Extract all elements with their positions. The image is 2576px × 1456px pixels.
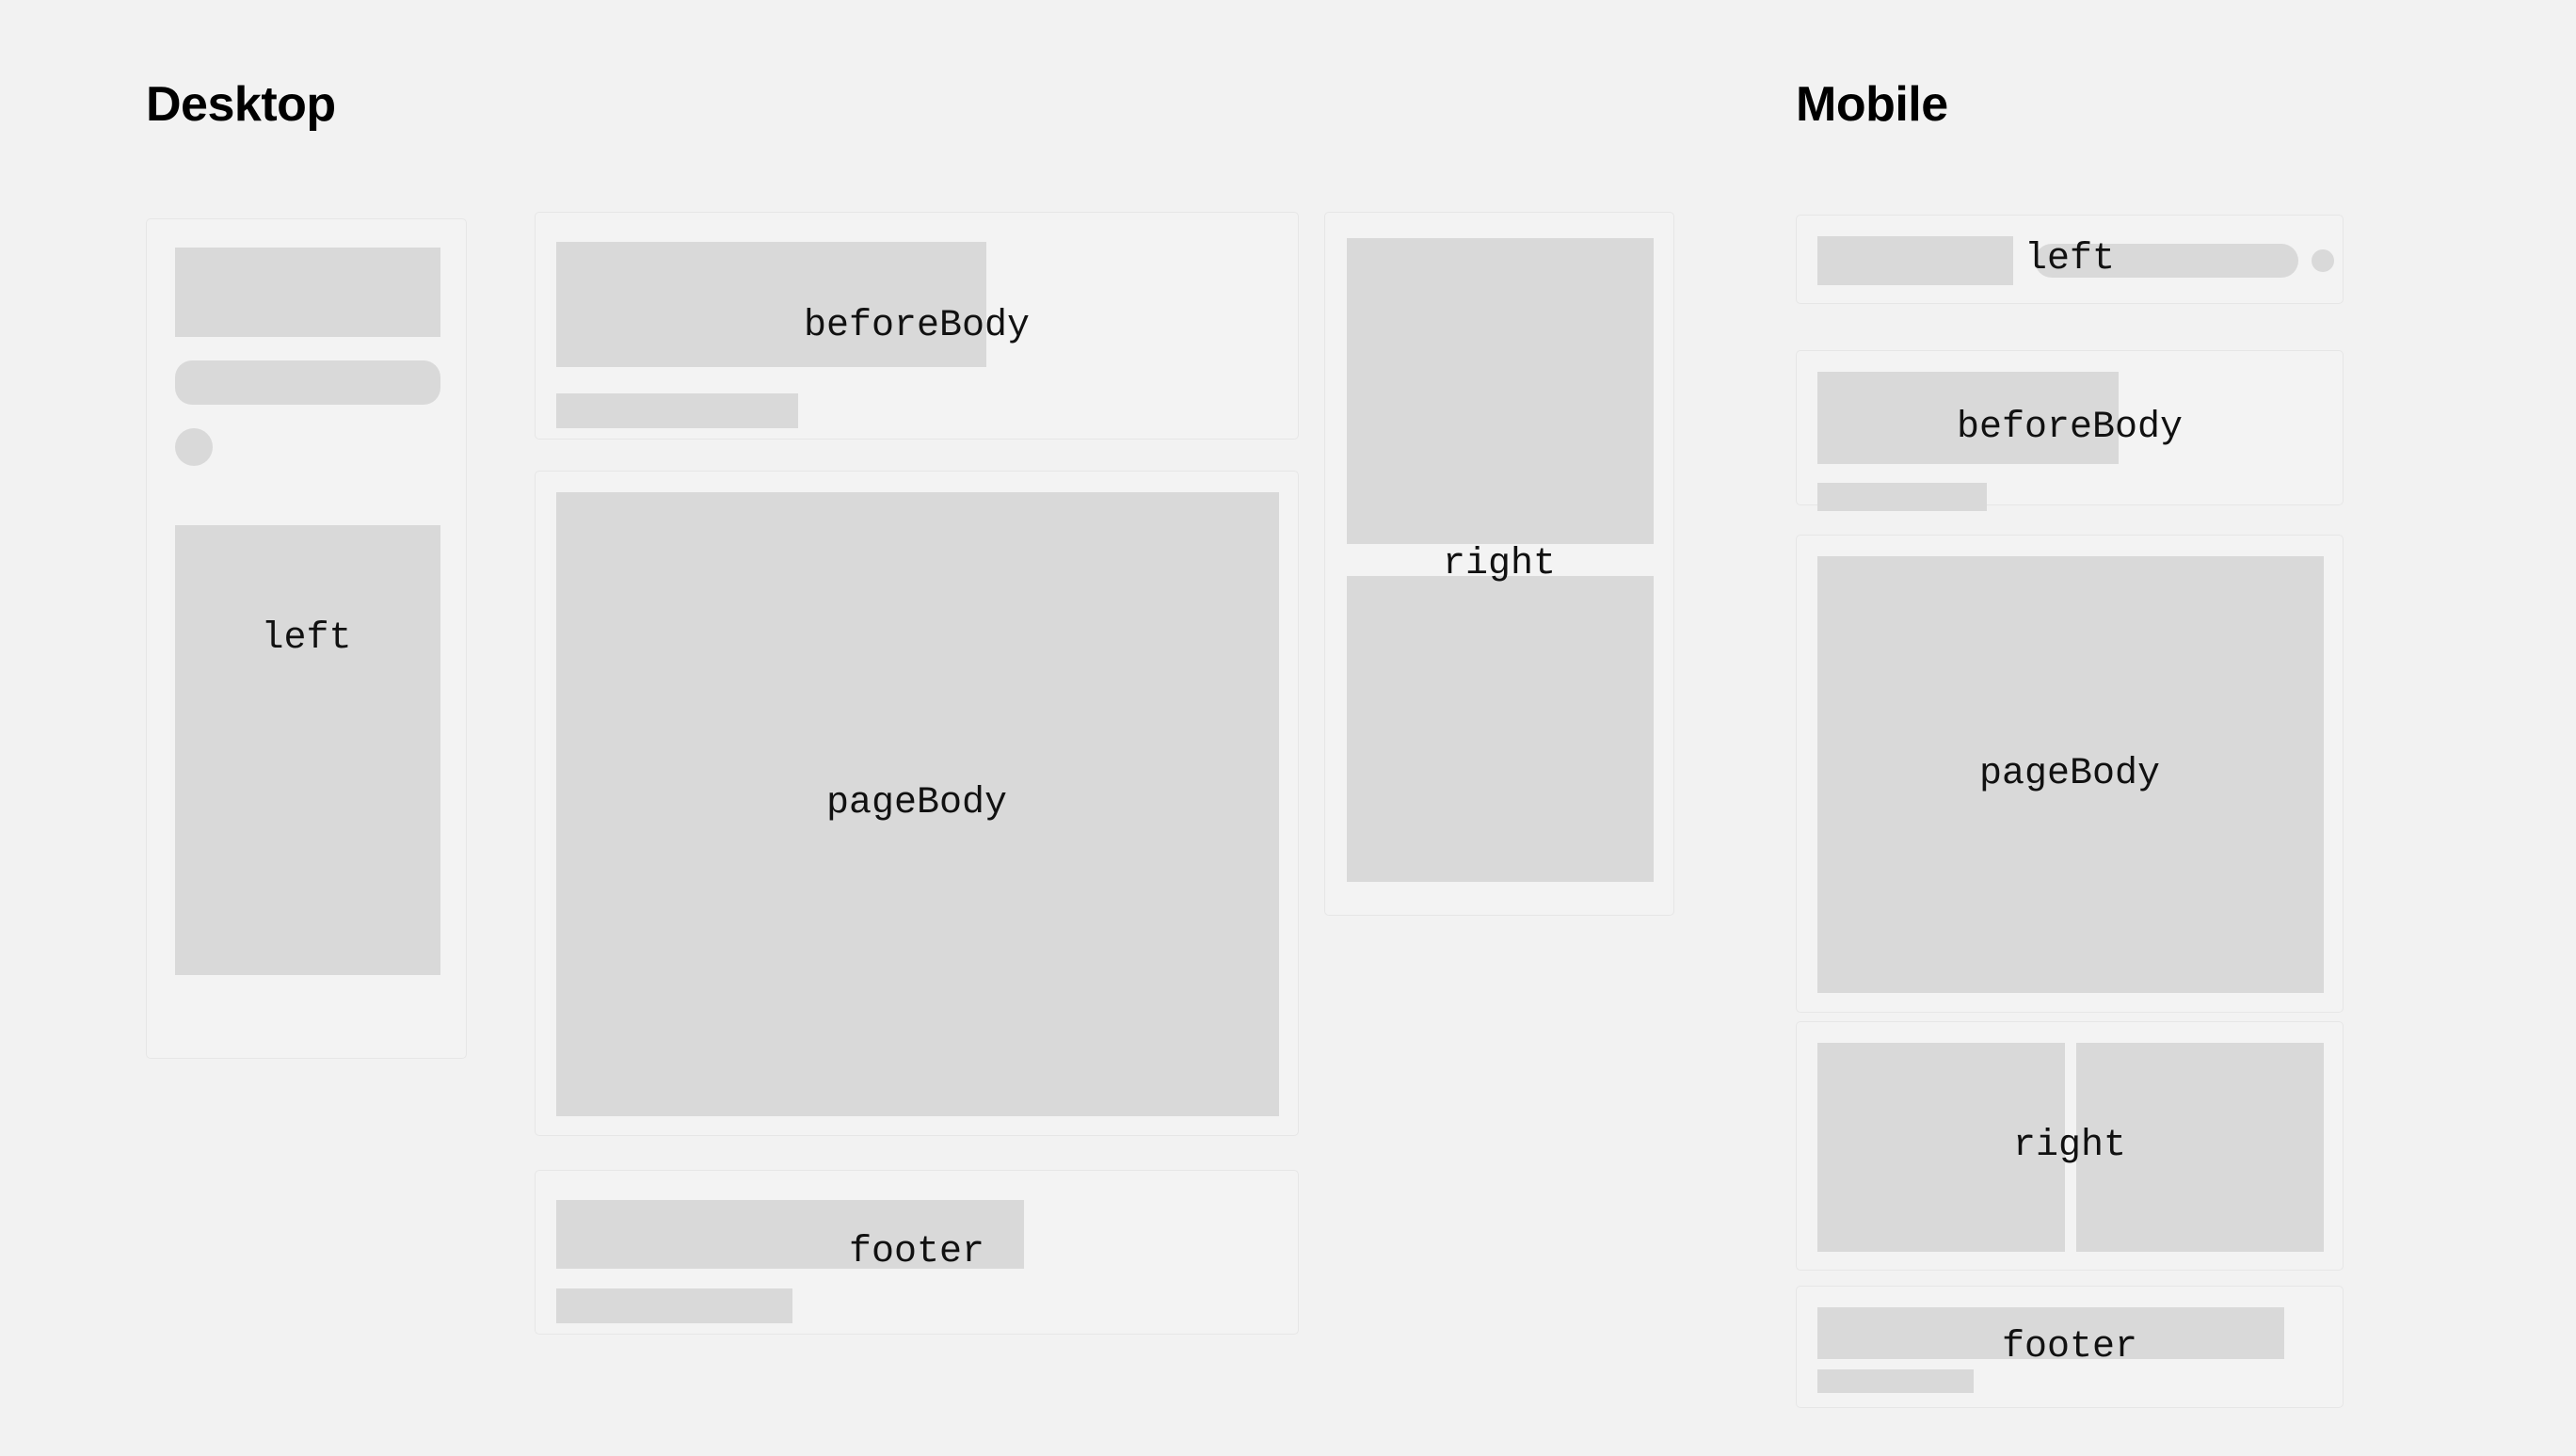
skeleton-avatar	[175, 428, 213, 466]
mobile-footer-slot-card[interactable]	[1796, 1286, 2344, 1408]
skeleton-block-hero	[556, 492, 1279, 1116]
skeleton-avatar	[2312, 249, 2334, 272]
desktop-right-slot-card[interactable]	[1324, 212, 1674, 916]
mobile-pagebody-slot-card[interactable]	[1796, 535, 2344, 1013]
skeleton-block-small	[556, 1288, 792, 1323]
mobile-left-slot-card[interactable]	[1796, 215, 2344, 304]
skeleton-block-right	[2076, 1043, 2324, 1252]
skeleton-block	[1817, 236, 2013, 285]
desktop-beforebody-slot-card[interactable]	[535, 212, 1299, 440]
desktop-pagebody-slot-card[interactable]	[535, 471, 1299, 1136]
skeleton-block-wide	[1817, 1307, 2284, 1359]
skeleton-block-wide	[556, 242, 986, 367]
desktop-left-slot-card[interactable]	[146, 218, 467, 1059]
skeleton-block-left	[1817, 1043, 2065, 1252]
skeleton-block-wide	[1817, 372, 2119, 464]
skeleton-block-small	[1817, 1369, 1974, 1393]
skeleton-block-top	[1347, 238, 1654, 544]
skeleton-block-tall	[175, 525, 440, 975]
layout-preview-page: Desktop left beforeBody pageBody footer …	[0, 0, 2576, 1456]
mobile-right-slot-card[interactable]	[1796, 1021, 2344, 1271]
desktop-column-heading: Desktop	[146, 80, 336, 129]
skeleton-pill	[2035, 244, 2298, 278]
skeleton-block-small	[1817, 483, 1987, 511]
desktop-footer-slot-card[interactable]	[535, 1170, 1299, 1335]
skeleton-block-small	[556, 393, 798, 428]
skeleton-block-hero	[1817, 556, 2324, 993]
skeleton-block-bottom	[1347, 576, 1654, 882]
skeleton-block-wide	[556, 1200, 1024, 1269]
skeleton-pill	[175, 360, 440, 405]
mobile-column-heading: Mobile	[1796, 80, 1948, 129]
mobile-beforebody-slot-card[interactable]	[1796, 350, 2344, 505]
skeleton-block-large	[175, 248, 440, 337]
